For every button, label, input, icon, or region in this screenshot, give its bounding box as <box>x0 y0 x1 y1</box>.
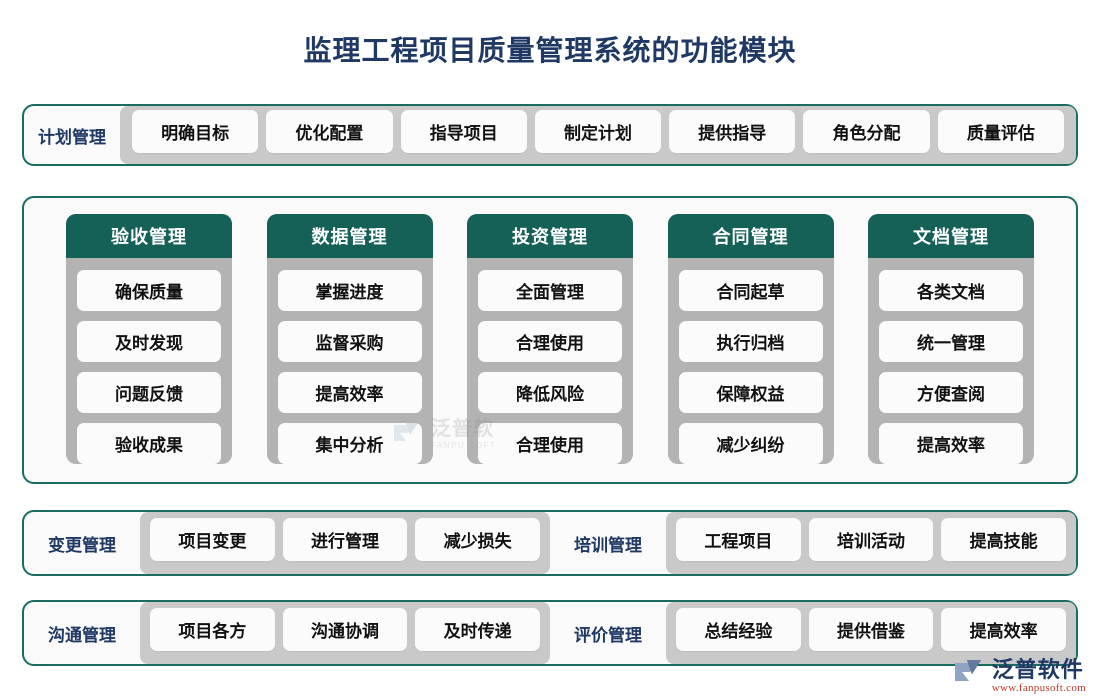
brand-name: 泛普软件 <box>992 658 1086 681</box>
chip-plan-0[interactable]: 明确目标 <box>132 110 258 153</box>
module-item-investment-2[interactable]: 降低风险 <box>478 372 622 413</box>
module-column-acceptance: 验收管理 确保质量 及时发现 问题反馈 验收成果 <box>66 214 232 464</box>
module-column-contract: 合同管理 合同起草 执行归档 保障权益 减少纠纷 <box>668 214 834 464</box>
module-column-investment: 投资管理 全面管理 合理使用 降低风险 合理使用 <box>467 214 633 464</box>
chip-plan-4[interactable]: 提供指导 <box>669 110 795 153</box>
section-core-modules: 验收管理 确保质量 及时发现 问题反馈 验收成果 数据管理 掌握进度 监督采购 … <box>22 196 1078 484</box>
module-body-acceptance: 确保质量 及时发现 问题反馈 验收成果 <box>66 258 232 464</box>
module-body-data: 掌握进度 监督采购 提高效率 集中分析 <box>267 258 433 464</box>
module-item-investment-3[interactable]: 合理使用 <box>478 423 622 464</box>
section-change-and-training: 变更管理 项目变更 进行管理 减少损失 培训管理 工程项目 培训活动 提高技能 <box>22 510 1078 576</box>
row-label-training: 培训管理 <box>550 531 666 556</box>
brand-logo: 泛普软件 www.fanpusoft.com <box>954 658 1086 694</box>
chip-training-0[interactable]: 工程项目 <box>676 518 801 561</box>
brand-text: 泛普软件 www.fanpusoft.com <box>992 658 1086 694</box>
module-item-document-1[interactable]: 统一管理 <box>879 321 1023 362</box>
module-column-document: 文档管理 各类文档 统一管理 方便查阅 提高效率 <box>868 214 1034 464</box>
chip-communication-1[interactable]: 沟通协调 <box>283 608 408 651</box>
module-item-acceptance-1[interactable]: 及时发现 <box>77 321 221 362</box>
module-body-document: 各类文档 统一管理 方便查阅 提高效率 <box>868 258 1034 464</box>
chip-plan-3[interactable]: 制定计划 <box>535 110 661 153</box>
module-body-contract: 合同起草 执行归档 保障权益 减少纠纷 <box>668 258 834 464</box>
row-label-change: 变更管理 <box>24 531 140 556</box>
fanpu-logo-icon <box>954 658 988 688</box>
chip-strip-training: 工程项目 培训活动 提高技能 <box>666 512 1076 574</box>
module-header-data: 数据管理 <box>267 214 433 258</box>
chip-plan-1[interactable]: 优化配置 <box>266 110 392 153</box>
chip-communication-2[interactable]: 及时传递 <box>415 608 540 651</box>
chip-communication-0[interactable]: 项目各方 <box>150 608 275 651</box>
chip-strip-plan: 明确目标 优化配置 指导项目 制定计划 提供指导 角色分配 质量评估 <box>120 106 1076 164</box>
module-item-investment-1[interactable]: 合理使用 <box>478 321 622 362</box>
module-item-contract-3[interactable]: 减少纠纷 <box>679 423 823 464</box>
module-item-document-2[interactable]: 方便查阅 <box>879 372 1023 413</box>
module-item-data-0[interactable]: 掌握进度 <box>278 270 422 311</box>
chip-strip-communication: 项目各方 沟通协调 及时传递 <box>140 602 550 664</box>
module-header-investment: 投资管理 <box>467 214 633 258</box>
chip-training-2[interactable]: 提高技能 <box>941 518 1066 561</box>
module-column-data: 数据管理 掌握进度 监督采购 提高效率 集中分析 <box>267 214 433 464</box>
module-item-data-2[interactable]: 提高效率 <box>278 372 422 413</box>
module-item-acceptance-0[interactable]: 确保质量 <box>77 270 221 311</box>
module-item-document-0[interactable]: 各类文档 <box>879 270 1023 311</box>
chip-evaluation-2[interactable]: 提高效率 <box>941 608 1066 651</box>
module-header-acceptance: 验收管理 <box>66 214 232 258</box>
chip-training-1[interactable]: 培训活动 <box>809 518 934 561</box>
chip-evaluation-1[interactable]: 提供借鉴 <box>809 608 934 651</box>
chip-change-1[interactable]: 进行管理 <box>283 518 408 561</box>
chip-change-0[interactable]: 项目变更 <box>150 518 275 561</box>
chip-plan-5[interactable]: 角色分配 <box>803 110 929 153</box>
chip-change-2[interactable]: 减少损失 <box>415 518 540 561</box>
module-item-contract-1[interactable]: 执行归档 <box>679 321 823 362</box>
page-title: 监理工程项目质量管理系统的功能模块 <box>0 0 1100 74</box>
chip-evaluation-0[interactable]: 总结经验 <box>676 608 801 651</box>
chip-plan-2[interactable]: 指导项目 <box>401 110 527 153</box>
brand-url: www.fanpusoft.com <box>992 682 1086 694</box>
row-label-communication: 沟通管理 <box>24 621 140 646</box>
module-item-data-1[interactable]: 监督采购 <box>278 321 422 362</box>
row-label-evaluation: 评价管理 <box>550 621 666 646</box>
row-label-plan: 计划管理 <box>24 123 120 148</box>
module-item-document-3[interactable]: 提高效率 <box>879 423 1023 464</box>
section-plan-management: 计划管理 明确目标 优化配置 指导项目 制定计划 提供指导 角色分配 质量评估 <box>22 104 1078 166</box>
module-item-contract-0[interactable]: 合同起草 <box>679 270 823 311</box>
module-body-investment: 全面管理 合理使用 降低风险 合理使用 <box>467 258 633 464</box>
section-communication-and-evaluation: 沟通管理 项目各方 沟通协调 及时传递 评价管理 总结经验 提供借鉴 提高效率 <box>22 600 1078 666</box>
module-item-acceptance-3[interactable]: 验收成果 <box>77 423 221 464</box>
module-item-investment-0[interactable]: 全面管理 <box>478 270 622 311</box>
module-item-acceptance-2[interactable]: 问题反馈 <box>77 372 221 413</box>
chip-plan-6[interactable]: 质量评估 <box>938 110 1064 153</box>
module-header-document: 文档管理 <box>868 214 1034 258</box>
module-header-contract: 合同管理 <box>668 214 834 258</box>
module-item-contract-2[interactable]: 保障权益 <box>679 372 823 413</box>
chip-strip-evaluation: 总结经验 提供借鉴 提高效率 <box>666 602 1076 664</box>
module-item-data-3[interactable]: 集中分析 <box>278 423 422 464</box>
chip-strip-change: 项目变更 进行管理 减少损失 <box>140 512 550 574</box>
